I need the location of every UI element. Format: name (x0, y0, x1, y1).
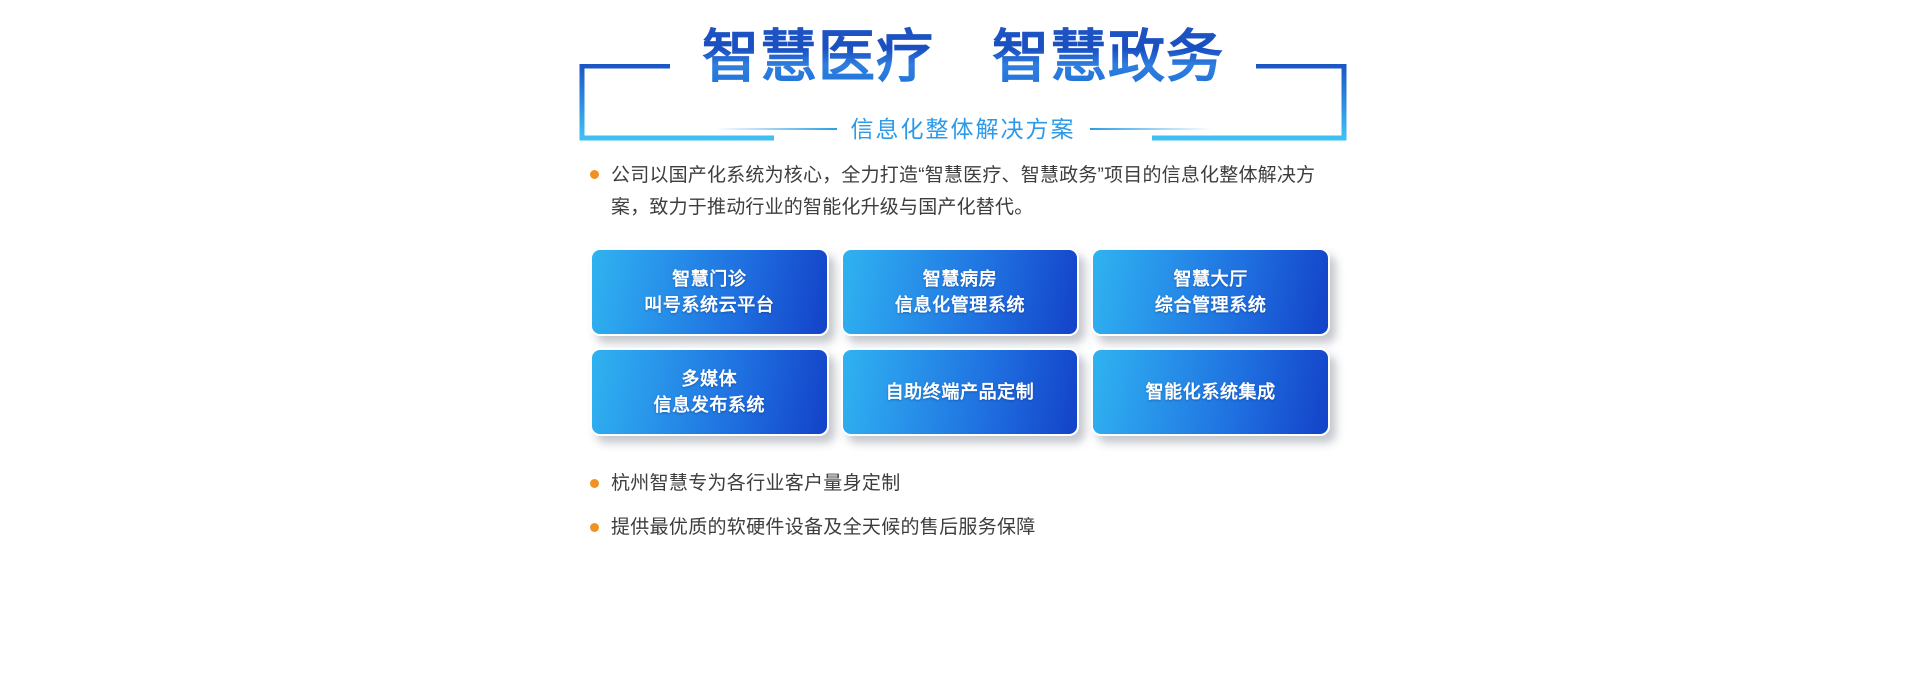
solution-card-line1: 智能化系统集成 (1146, 379, 1276, 405)
solution-card-label: 智能化系统集成 (1146, 379, 1276, 405)
footer-bullet-list: 杭州智慧专为各行业客户量身定制 提供最优质的软硬件设备及全天候的售后服务保障 (590, 470, 1330, 558)
solution-card[interactable]: 智慧病房 信息化管理系统 (841, 248, 1080, 336)
solution-card-line1: 多媒体 (654, 366, 766, 392)
lead-paragraph: 公司以国产化系统为核心，全力打造“智慧医疗、智慧政务”项目的信息化整体解决方案，… (590, 160, 1330, 224)
subtitle-rule-right (1090, 128, 1212, 130)
solution-card-line1: 智慧门诊 (644, 266, 774, 292)
title-row: 智慧医疗 智慧政务 (578, 22, 1348, 92)
footer-bullet-item: 杭州智慧专为各行业客户量身定制 (590, 470, 1330, 498)
footer-bullet-text: 杭州智慧专为各行业客户量身定制 (611, 470, 901, 498)
solution-card-line2: 叫号系统云平台 (644, 292, 774, 318)
page-title: 智慧医疗 智慧政务 (702, 22, 1224, 92)
solution-card-line2: 信息发布系统 (654, 392, 766, 418)
solution-card-line1: 智慧病房 (895, 266, 1025, 292)
solution-card-line1: 自助终端产品定制 (886, 379, 1035, 405)
solution-card-label: 多媒体 信息发布系统 (654, 366, 766, 418)
solution-card-label: 智慧病房 信息化管理系统 (895, 266, 1025, 318)
footer-bullet-item: 提供最优质的软硬件设备及全天候的售后服务保障 (590, 514, 1330, 542)
subtitle-row: 信息化整体解决方案 (578, 114, 1348, 144)
solution-card[interactable]: 智慧门诊 叫号系统云平台 (590, 248, 829, 336)
bullet-dot-icon (590, 479, 599, 488)
footer-bullet-text: 提供最优质的软硬件设备及全天候的售后服务保障 (611, 514, 1036, 542)
solution-card[interactable]: 智慧大厅 综合管理系统 (1091, 248, 1330, 336)
bullet-dot-icon (590, 523, 599, 532)
solution-card[interactable]: 智能化系统集成 (1091, 348, 1330, 436)
solution-card-line2: 信息化管理系统 (895, 292, 1025, 318)
solution-card-label: 智慧大厅 综合管理系统 (1155, 266, 1267, 318)
solution-card[interactable]: 自助终端产品定制 (841, 348, 1080, 436)
solution-card-line2: 综合管理系统 (1155, 292, 1267, 318)
solution-card[interactable]: 多媒体 信息发布系统 (590, 348, 829, 436)
solution-card-label: 智慧门诊 叫号系统云平台 (644, 266, 774, 318)
lead-paragraph-text: 公司以国产化系统为核心，全力打造“智慧医疗、智慧政务”项目的信息化整体解决方案，… (611, 160, 1330, 224)
solution-card-line1: 智慧大厅 (1155, 266, 1267, 292)
page-root: 智慧医疗 智慧政务 信息化整体解决方案 公司以国产化系统为核心，全力打造“智慧医… (0, 0, 1920, 680)
page-subtitle: 信息化整体解决方案 (851, 114, 1076, 144)
solution-card-grid: 智慧门诊 叫号系统云平台 智慧病房 信息化管理系统 智慧大厅 综合管理系统 多媒… (590, 248, 1330, 436)
bullet-dot-icon (590, 170, 599, 179)
header-block: 智慧医疗 智慧政务 信息化整体解决方案 (578, 22, 1348, 142)
subtitle-rule-left (715, 128, 837, 130)
solution-card-label: 自助终端产品定制 (886, 379, 1035, 405)
